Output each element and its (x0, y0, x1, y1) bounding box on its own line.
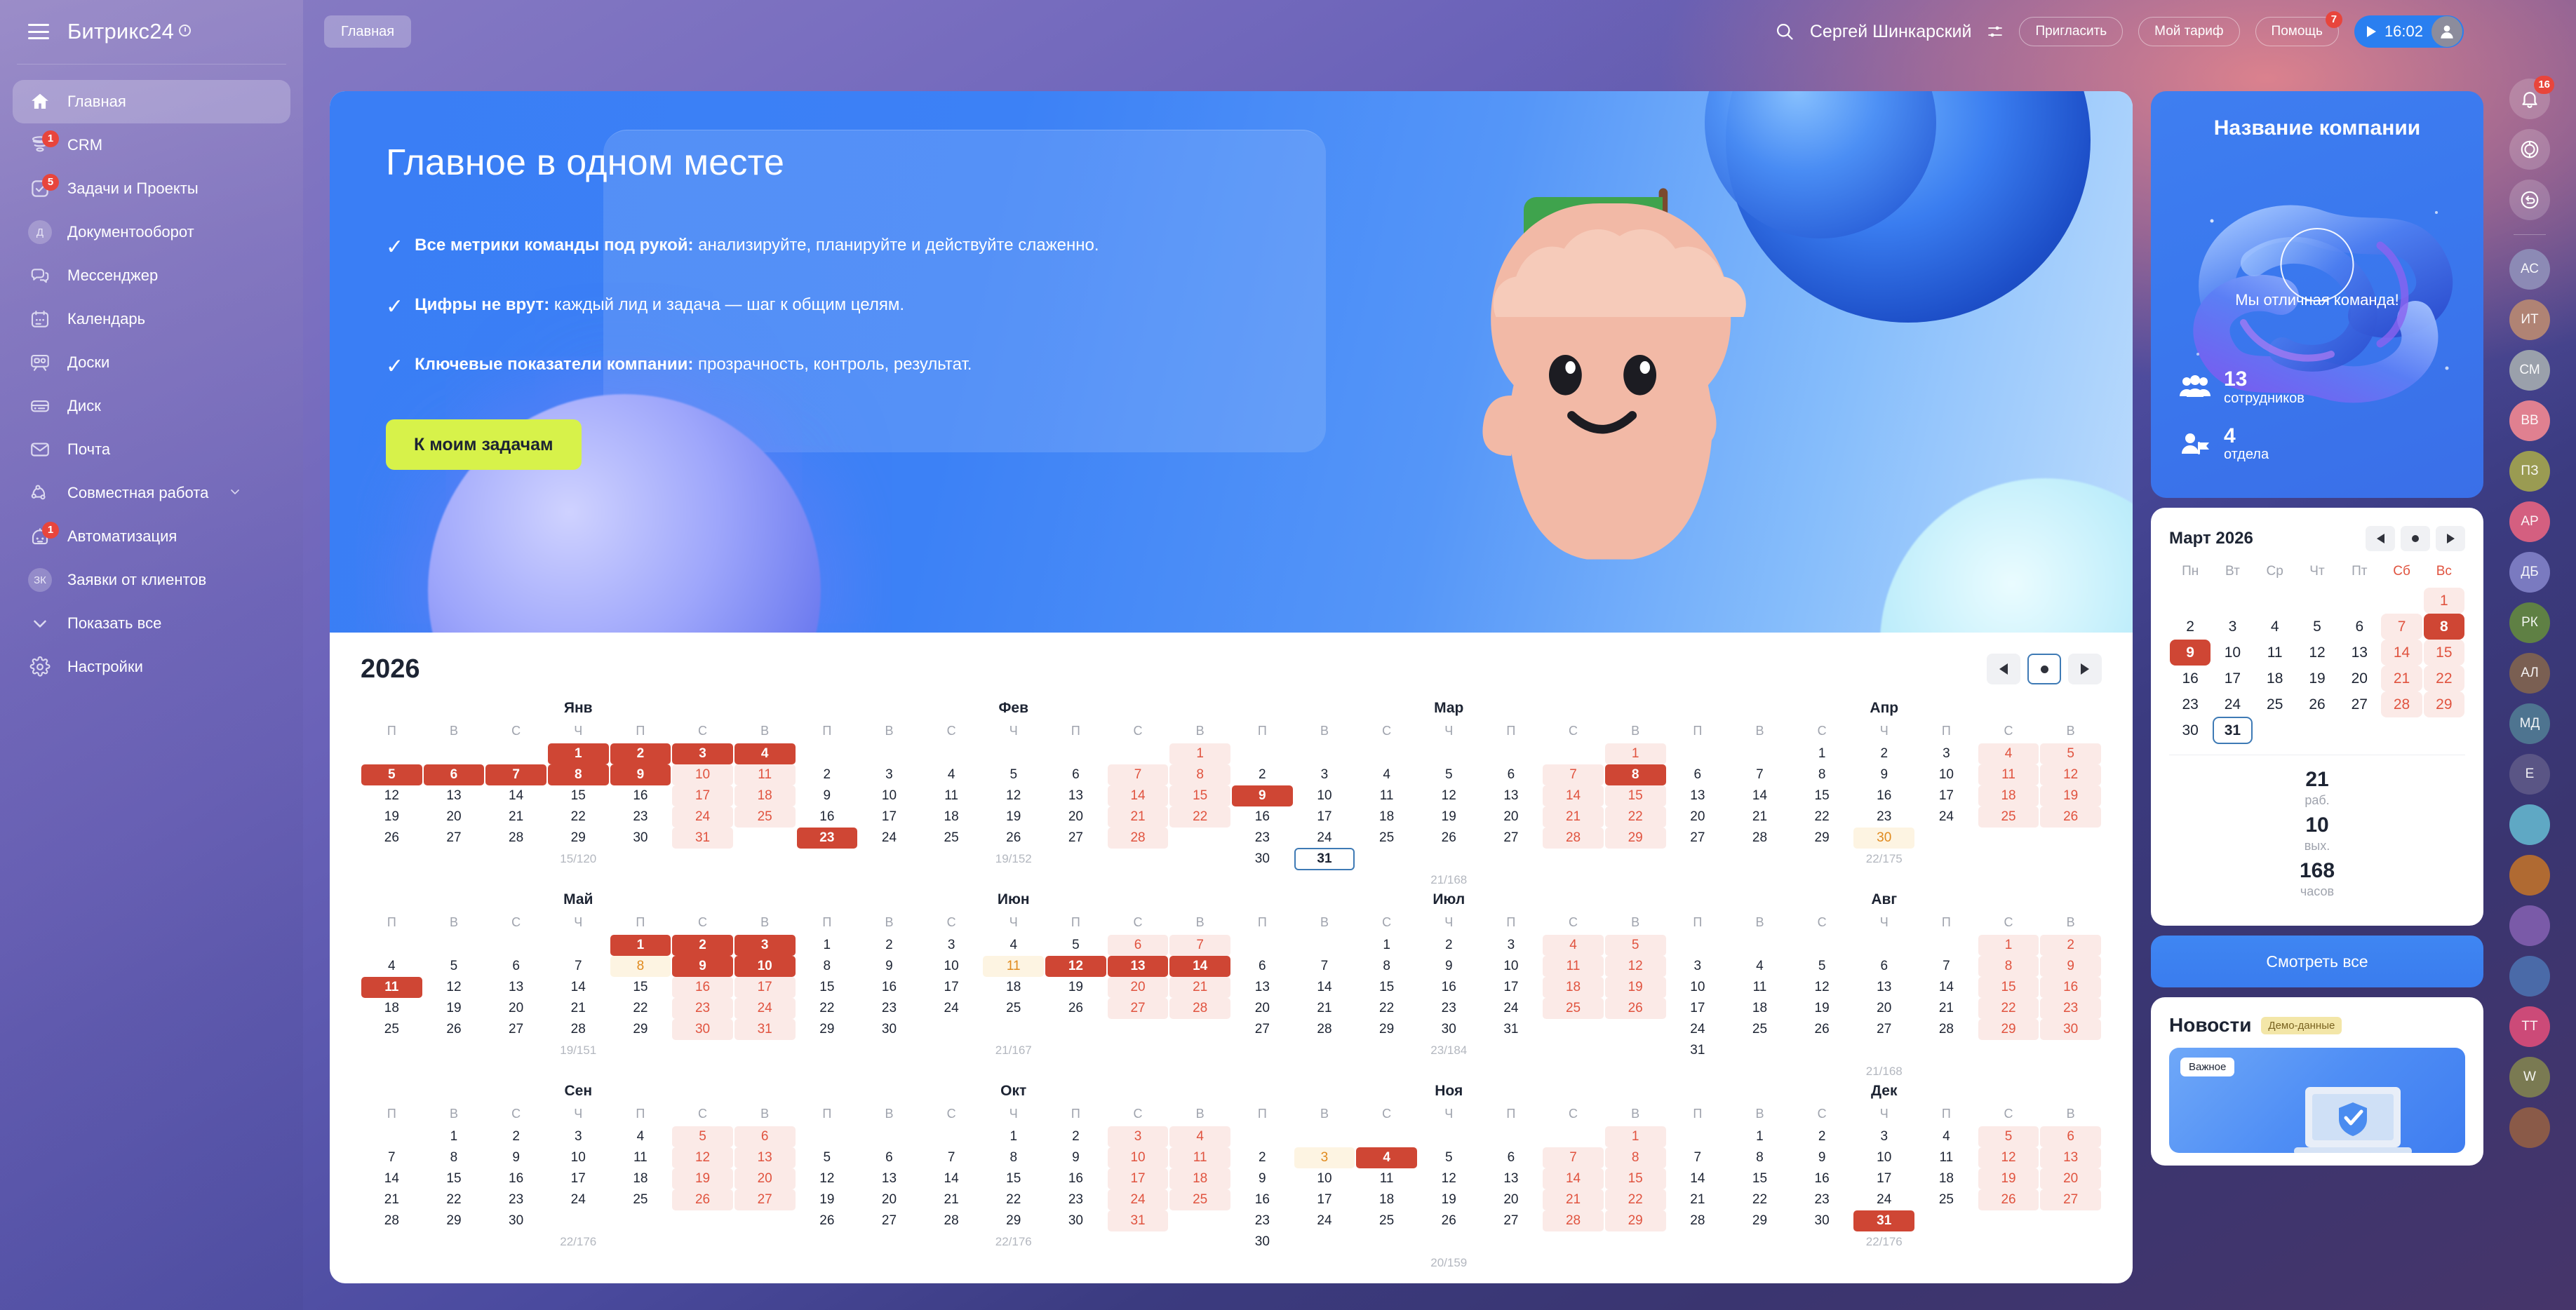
day-cell[interactable]: 23 (1231, 1210, 1294, 1231)
current-user-name[interactable]: Сергей Шинкарский (1810, 22, 1972, 42)
day-cell[interactable]: 15 (547, 785, 610, 806)
day-cell[interactable]: 4 (920, 764, 983, 785)
sidebar-item-11[interactable]: ЗКЗаявки от клиентов (13, 558, 290, 602)
mini-day-cell[interactable]: 15 (2423, 640, 2465, 666)
day-cell[interactable]: 25 (1355, 828, 1418, 849)
day-cell[interactable]: 11 (1978, 764, 2040, 785)
day-cell[interactable]: 20 (734, 1168, 796, 1189)
day-cell[interactable]: 14 (1542, 1168, 1604, 1189)
company-card[interactable]: Название компании Мы отличная команда! (2151, 91, 2483, 498)
day-cell[interactable]: 17 (1107, 1168, 1169, 1189)
day-cell[interactable]: 21 (1169, 977, 1231, 998)
sidebar-item-8[interactable]: Почта (13, 428, 290, 471)
view-all-button[interactable]: Смотреть все (2151, 936, 2483, 987)
day-cell[interactable]: 15 (1791, 785, 1853, 806)
day-cell[interactable]: 26 (796, 1210, 859, 1231)
day-cell[interactable]: 15 (1604, 785, 1667, 806)
day-cell[interactable]: 18 (361, 998, 423, 1019)
day-cell[interactable]: 25 (1542, 998, 1604, 1019)
day-cell[interactable]: 16 (1231, 1189, 1294, 1210)
day-cell[interactable]: 19 (1418, 806, 1480, 828)
day-cell[interactable]: 14 (1294, 977, 1356, 998)
day-cell[interactable]: 23 (671, 998, 734, 1019)
avatar[interactable] (2509, 905, 2550, 946)
day-cell[interactable]: 28 (1915, 1019, 1978, 1040)
day-cell[interactable]: 14 (361, 1168, 423, 1189)
day-cell[interactable]: 18 (920, 806, 983, 828)
day-cell[interactable]: 7 (485, 764, 547, 785)
day-cell[interactable]: 30 (610, 828, 672, 849)
day-cell[interactable]: 22 (796, 998, 859, 1019)
day-cell[interactable]: 18 (1915, 1168, 1978, 1189)
day-cell[interactable]: 3 (1107, 1126, 1169, 1147)
avatar[interactable] (2509, 956, 2550, 997)
sidebar-item-12[interactable]: Показать все (13, 602, 290, 645)
day-cell[interactable]: 11 (1915, 1147, 1978, 1168)
day-cell[interactable]: 27 (1480, 1210, 1543, 1231)
day-cell[interactable]: 10 (920, 956, 983, 977)
day-cell[interactable]: 29 (1978, 1019, 2040, 1040)
day-cell[interactable]: 10 (1294, 1168, 1356, 1189)
day-cell[interactable]: 19 (1418, 1189, 1480, 1210)
day-cell[interactable]: 1 (982, 1126, 1045, 1147)
day-cell[interactable]: 24 (1107, 1189, 1169, 1210)
day-cell[interactable]: 22 (1978, 998, 2040, 1019)
day-cell[interactable]: 7 (1915, 956, 1978, 977)
day-cell[interactable]: 6 (1045, 764, 1107, 785)
day-cell[interactable]: 28 (485, 828, 547, 849)
day-cell[interactable]: 29 (1791, 828, 1853, 849)
day-cell[interactable]: 23 (2039, 998, 2102, 1019)
day-cell[interactable]: 23 (1853, 806, 1915, 828)
day-cell[interactable]: 25 (734, 806, 796, 828)
day-cell[interactable]: 10 (1853, 1147, 1915, 1168)
day-cell[interactable]: 1 (1169, 743, 1231, 764)
day-cell[interactable]: 19 (982, 806, 1045, 828)
day-cell[interactable]: 11 (1355, 1168, 1418, 1189)
day-cell[interactable]: 9 (485, 1147, 547, 1168)
mini-day-cell[interactable]: 12 (2296, 640, 2338, 666)
day-cell[interactable]: 15 (610, 977, 672, 998)
day-cell[interactable]: 2 (1231, 764, 1294, 785)
day-cell[interactable]: 15 (1355, 977, 1418, 998)
day-cell[interactable]: 6 (1107, 935, 1169, 956)
day-cell[interactable]: 16 (796, 806, 859, 828)
sidebar-item-1[interactable]: 1CRM (13, 123, 290, 167)
day-cell[interactable]: 14 (547, 977, 610, 998)
day-cell[interactable]: 29 (1604, 828, 1667, 849)
day-cell[interactable]: 23 (1231, 828, 1294, 849)
mini-day-cell[interactable]: 11 (2254, 640, 2296, 666)
day-cell[interactable]: 4 (361, 956, 423, 977)
day-cell[interactable]: 25 (1729, 1019, 1791, 1040)
day-cell[interactable]: 30 (1791, 1210, 1853, 1231)
day-cell[interactable]: 17 (1294, 806, 1356, 828)
day-cell[interactable]: 1 (1355, 935, 1418, 956)
day-cell[interactable]: 18 (1355, 806, 1418, 828)
mini-day-cell[interactable]: 4 (2254, 614, 2296, 640)
day-cell[interactable]: 26 (982, 828, 1045, 849)
mini-day-cell[interactable]: 9 (2169, 640, 2211, 666)
mini-day-cell[interactable]: 14 (2380, 640, 2422, 666)
mini-today-button[interactable] (2401, 526, 2430, 551)
day-cell[interactable]: 29 (982, 1210, 1045, 1231)
day-cell[interactable]: 7 (1542, 1147, 1604, 1168)
day-cell[interactable]: 1 (1604, 743, 1667, 764)
day-cell[interactable]: 26 (1045, 998, 1107, 1019)
day-cell[interactable]: 27 (1231, 1019, 1294, 1040)
day-cell[interactable]: 4 (1355, 764, 1418, 785)
day-cell[interactable]: 20 (1667, 806, 1729, 828)
day-cell[interactable]: 20 (485, 998, 547, 1019)
day-cell[interactable]: 5 (671, 1126, 734, 1147)
day-cell[interactable]: 11 (920, 785, 983, 806)
chevron-down-icon[interactable] (228, 485, 242, 502)
day-cell[interactable]: 8 (796, 956, 859, 977)
day-cell[interactable]: 9 (1791, 1147, 1853, 1168)
day-cell[interactable]: 8 (1355, 956, 1418, 977)
day-cell[interactable]: 6 (2039, 1126, 2102, 1147)
day-cell[interactable]: 15 (1169, 785, 1231, 806)
day-cell[interactable]: 3 (920, 935, 983, 956)
day-cell[interactable]: 23 (796, 828, 859, 849)
day-cell[interactable]: 8 (1978, 956, 2040, 977)
day-cell[interactable]: 20 (1107, 977, 1169, 998)
day-cell[interactable]: 30 (485, 1210, 547, 1231)
day-cell[interactable]: 22 (1355, 998, 1418, 1019)
day-cell[interactable]: 9 (1853, 764, 1915, 785)
day-cell[interactable]: 15 (982, 1168, 1045, 1189)
day-cell[interactable]: 21 (920, 1189, 983, 1210)
day-cell[interactable]: 28 (1107, 828, 1169, 849)
day-cell[interactable]: 27 (2039, 1189, 2102, 1210)
day-cell[interactable]: 1 (610, 935, 672, 956)
day-cell[interactable]: 3 (1667, 956, 1729, 977)
day-cell[interactable]: 16 (1045, 1168, 1107, 1189)
day-cell[interactable]: 14 (1915, 977, 1978, 998)
day-cell[interactable]: 27 (1853, 1019, 1915, 1040)
day-cell[interactable]: 23 (858, 998, 920, 1019)
day-cell[interactable]: 11 (361, 977, 423, 998)
day-cell[interactable]: 8 (982, 1147, 1045, 1168)
day-cell[interactable]: 21 (547, 998, 610, 1019)
day-cell[interactable]: 18 (610, 1168, 672, 1189)
day-cell[interactable]: 20 (1045, 806, 1107, 828)
mini-next-button[interactable] (2436, 526, 2465, 551)
day-cell[interactable]: 7 (361, 1147, 423, 1168)
day-cell[interactable]: 17 (1667, 998, 1729, 1019)
day-cell[interactable]: 1 (796, 935, 859, 956)
day-cell[interactable]: 15 (1604, 1168, 1667, 1189)
day-cell[interactable]: 13 (858, 1168, 920, 1189)
day-cell[interactable]: 17 (920, 977, 983, 998)
day-cell[interactable]: 21 (361, 1189, 423, 1210)
day-cell[interactable]: 8 (1169, 764, 1231, 785)
day-cell[interactable]: 27 (858, 1210, 920, 1231)
day-cell[interactable]: 18 (982, 977, 1045, 998)
day-cell[interactable]: 26 (1418, 1210, 1480, 1231)
day-cell[interactable]: 8 (1604, 1147, 1667, 1168)
day-cell[interactable]: 27 (1045, 828, 1107, 849)
day-cell[interactable]: 18 (1542, 977, 1604, 998)
day-cell[interactable]: 23 (485, 1189, 547, 1210)
day-cell[interactable]: 7 (1542, 764, 1604, 785)
day-cell[interactable]: 4 (1355, 1147, 1418, 1168)
day-cell[interactable]: 17 (1915, 785, 1978, 806)
day-cell[interactable]: 6 (1231, 956, 1294, 977)
day-cell[interactable]: 2 (2039, 935, 2102, 956)
day-cell[interactable]: 16 (1418, 977, 1480, 998)
day-cell[interactable]: 18 (1729, 998, 1791, 1019)
time-tracker-button[interactable]: 16:02 (2354, 15, 2464, 48)
day-cell[interactable]: 29 (610, 1019, 672, 1040)
cta-my-tasks-button[interactable]: К моим задачам (386, 419, 582, 470)
day-cell[interactable]: 9 (1231, 785, 1294, 806)
day-cell[interactable]: 22 (1791, 806, 1853, 828)
day-cell[interactable]: 12 (982, 785, 1045, 806)
day-cell[interactable]: 5 (1418, 1147, 1480, 1168)
day-cell[interactable]: 19 (671, 1168, 734, 1189)
day-cell[interactable]: 20 (423, 806, 485, 828)
day-cell[interactable]: 19 (796, 1189, 859, 1210)
day-cell[interactable]: 19 (1045, 977, 1107, 998)
day-cell[interactable]: 17 (671, 785, 734, 806)
day-cell[interactable]: 4 (1729, 956, 1791, 977)
day-cell[interactable]: 24 (1480, 998, 1543, 1019)
day-cell[interactable]: 12 (1604, 956, 1667, 977)
day-cell[interactable]: 13 (1480, 1168, 1543, 1189)
day-cell[interactable]: 13 (1107, 956, 1169, 977)
mini-day-cell[interactable]: 3 (2211, 614, 2253, 640)
sidebar-item-10[interactable]: 1Автоматизация (13, 515, 290, 558)
day-cell[interactable]: 16 (610, 785, 672, 806)
day-cell[interactable]: 14 (1107, 785, 1169, 806)
avatar[interactable]: АЛ (2509, 653, 2550, 694)
day-cell[interactable]: 27 (485, 1019, 547, 1040)
day-cell[interactable]: 16 (485, 1168, 547, 1189)
day-cell[interactable]: 31 (1480, 1019, 1543, 1040)
day-cell[interactable]: 23 (1045, 1189, 1107, 1210)
day-cell[interactable]: 15 (1729, 1168, 1791, 1189)
day-cell[interactable]: 21 (1667, 1189, 1729, 1210)
day-cell[interactable]: 20 (858, 1189, 920, 1210)
day-cell[interactable]: 16 (858, 977, 920, 998)
day-cell[interactable]: 20 (1480, 806, 1543, 828)
day-cell[interactable]: 26 (1978, 1189, 2040, 1210)
year-today-button[interactable] (2027, 654, 2061, 684)
day-cell[interactable]: 5 (361, 764, 423, 785)
mini-day-cell[interactable]: 18 (2254, 666, 2296, 691)
day-cell[interactable]: 4 (610, 1126, 672, 1147)
day-cell[interactable]: 23 (1418, 998, 1480, 1019)
day-cell[interactable]: 13 (1667, 785, 1729, 806)
sidebar-item-0[interactable]: Главная (13, 80, 290, 123)
day-cell[interactable]: 12 (361, 785, 423, 806)
day-cell[interactable]: 10 (1480, 956, 1543, 977)
news-thumbnail[interactable]: Важное (2169, 1048, 2465, 1153)
mini-day-cell[interactable]: 25 (2254, 691, 2296, 717)
day-cell[interactable]: 13 (423, 785, 485, 806)
day-cell[interactable]: 5 (1604, 935, 1667, 956)
day-cell[interactable]: 28 (547, 1019, 610, 1040)
mini-day-cell[interactable]: 22 (2423, 666, 2465, 691)
day-cell[interactable]: 2 (485, 1126, 547, 1147)
day-cell[interactable]: 8 (610, 956, 672, 977)
day-cell[interactable]: 21 (1915, 998, 1978, 1019)
day-cell[interactable]: 22 (547, 806, 610, 828)
day-cell[interactable]: 24 (1915, 806, 1978, 828)
day-cell[interactable]: 31 (1853, 1210, 1915, 1231)
day-cell[interactable]: 14 (1169, 956, 1231, 977)
day-cell[interactable]: 30 (1231, 1231, 1294, 1252)
day-cell[interactable]: 17 (547, 1168, 610, 1189)
day-cell[interactable]: 24 (734, 998, 796, 1019)
day-cell[interactable]: 12 (1045, 956, 1107, 977)
avatar[interactable]: ТТ (2509, 1006, 2550, 1047)
mini-day-cell[interactable]: 23 (2169, 691, 2211, 717)
avatar[interactable] (2509, 804, 2550, 845)
day-cell[interactable]: 3 (858, 764, 920, 785)
day-cell[interactable]: 13 (1480, 785, 1543, 806)
my-plan-button[interactable]: Мой тариф (2138, 17, 2239, 46)
day-cell[interactable]: 7 (1729, 764, 1791, 785)
day-cell[interactable]: 25 (1355, 1210, 1418, 1231)
day-cell[interactable]: 2 (1791, 1126, 1853, 1147)
day-cell[interactable]: 3 (547, 1126, 610, 1147)
day-cell[interactable]: 2 (1418, 935, 1480, 956)
avatar[interactable]: МД (2509, 703, 2550, 744)
day-cell[interactable]: 19 (1604, 977, 1667, 998)
day-cell[interactable]: 24 (1853, 1189, 1915, 1210)
day-cell[interactable]: 6 (1667, 764, 1729, 785)
day-cell[interactable]: 12 (1978, 1147, 2040, 1168)
day-cell[interactable]: 12 (423, 977, 485, 998)
day-cell[interactable]: 31 (1294, 849, 1356, 870)
day-cell[interactable]: 24 (1294, 1210, 1356, 1231)
day-cell[interactable]: 3 (671, 743, 734, 764)
sidebar-item-7[interactable]: Диск (13, 384, 290, 428)
day-cell[interactable]: 5 (2039, 743, 2102, 764)
day-cell[interactable]: 31 (734, 1019, 796, 1040)
day-cell[interactable]: 29 (1604, 1210, 1667, 1231)
day-cell[interactable]: 27 (1107, 998, 1169, 1019)
day-cell[interactable]: 22 (423, 1189, 485, 1210)
day-cell[interactable]: 14 (920, 1168, 983, 1189)
day-cell[interactable]: 11 (982, 956, 1045, 977)
day-cell[interactable]: 6 (1853, 956, 1915, 977)
day-cell[interactable]: 9 (671, 956, 734, 977)
avatar[interactable]: РК (2509, 602, 2550, 643)
day-cell[interactable]: 29 (1729, 1210, 1791, 1231)
day-cell[interactable]: 15 (423, 1168, 485, 1189)
day-cell[interactable]: 21 (1729, 806, 1791, 828)
day-cell[interactable]: 13 (485, 977, 547, 998)
day-cell[interactable]: 31 (1667, 1040, 1729, 1061)
day-cell[interactable]: 6 (423, 764, 485, 785)
day-cell[interactable]: 17 (734, 977, 796, 998)
day-cell[interactable]: 19 (2039, 785, 2102, 806)
mini-day-cell[interactable]: 20 (2338, 666, 2380, 691)
day-cell[interactable]: 30 (1418, 1019, 1480, 1040)
day-cell[interactable]: 29 (423, 1210, 485, 1231)
day-cell[interactable]: 18 (734, 785, 796, 806)
year-prev-button[interactable] (1987, 654, 2020, 684)
day-cell[interactable]: 20 (1853, 998, 1915, 1019)
day-cell[interactable]: 14 (485, 785, 547, 806)
mini-day-cell[interactable]: 30 (2169, 717, 2211, 743)
day-cell[interactable]: 2 (671, 935, 734, 956)
day-cell[interactable]: 22 (1169, 806, 1231, 828)
day-cell[interactable]: 24 (858, 828, 920, 849)
day-cell[interactable]: 27 (734, 1189, 796, 1210)
sync-icon[interactable] (2509, 180, 2550, 220)
day-cell[interactable]: 6 (858, 1147, 920, 1168)
day-cell[interactable]: 12 (671, 1147, 734, 1168)
day-cell[interactable]: 28 (1294, 1019, 1356, 1040)
day-cell[interactable]: 6 (485, 956, 547, 977)
avatar[interactable] (2509, 855, 2550, 896)
day-cell[interactable]: 5 (1791, 956, 1853, 977)
day-cell[interactable]: 21 (1542, 806, 1604, 828)
day-cell[interactable]: 3 (1853, 1126, 1915, 1147)
mini-day-cell[interactable]: 2 (2169, 614, 2211, 640)
day-cell[interactable]: 21 (1542, 1189, 1604, 1210)
day-cell[interactable]: 9 (2039, 956, 2102, 977)
mini-day-cell[interactable]: 21 (2380, 666, 2422, 691)
day-cell[interactable]: 28 (1667, 1210, 1729, 1231)
day-cell[interactable]: 2 (858, 935, 920, 956)
day-cell[interactable]: 9 (1045, 1147, 1107, 1168)
day-cell[interactable]: 3 (1915, 743, 1978, 764)
sidebar-item-5[interactable]: Календарь (13, 297, 290, 341)
day-cell[interactable]: 12 (1418, 785, 1480, 806)
mini-day-cell[interactable]: 28 (2380, 691, 2422, 717)
day-cell[interactable]: 16 (1231, 806, 1294, 828)
day-cell[interactable]: 30 (858, 1019, 920, 1040)
day-cell[interactable]: 29 (796, 1019, 859, 1040)
day-cell[interactable]: 1 (423, 1126, 485, 1147)
day-cell[interactable]: 6 (1480, 764, 1543, 785)
day-cell[interactable]: 25 (1978, 806, 2040, 828)
day-cell[interactable]: 1 (1791, 743, 1853, 764)
day-cell[interactable]: 7 (920, 1147, 983, 1168)
day-cell[interactable]: 22 (1604, 1189, 1667, 1210)
day-cell[interactable]: 5 (796, 1147, 859, 1168)
day-cell[interactable]: 19 (1978, 1168, 2040, 1189)
day-cell[interactable]: 15 (796, 977, 859, 998)
day-cell[interactable]: 4 (734, 743, 796, 764)
day-cell[interactable]: 3 (734, 935, 796, 956)
day-cell[interactable]: 11 (734, 764, 796, 785)
day-cell[interactable]: 30 (1853, 828, 1915, 849)
menu-burger-icon[interactable] (28, 24, 49, 39)
day-cell[interactable]: 12 (1791, 977, 1853, 998)
day-cell[interactable]: 30 (671, 1019, 734, 1040)
day-cell[interactable]: 11 (1169, 1147, 1231, 1168)
brand-logo[interactable]: Битрикс24 (67, 19, 191, 44)
day-cell[interactable]: 22 (610, 998, 672, 1019)
day-cell[interactable]: 2 (610, 743, 672, 764)
avatar[interactable]: Е (2509, 754, 2550, 795)
day-cell[interactable]: 18 (1978, 785, 2040, 806)
day-cell[interactable]: 30 (1045, 1210, 1107, 1231)
day-cell[interactable]: 17 (1294, 1189, 1356, 1210)
day-cell[interactable]: 23 (1791, 1189, 1853, 1210)
day-cell[interactable]: 14 (1667, 1168, 1729, 1189)
mini-day-cell[interactable]: 13 (2338, 640, 2380, 666)
day-cell[interactable]: 4 (1169, 1126, 1231, 1147)
day-cell[interactable]: 4 (982, 935, 1045, 956)
